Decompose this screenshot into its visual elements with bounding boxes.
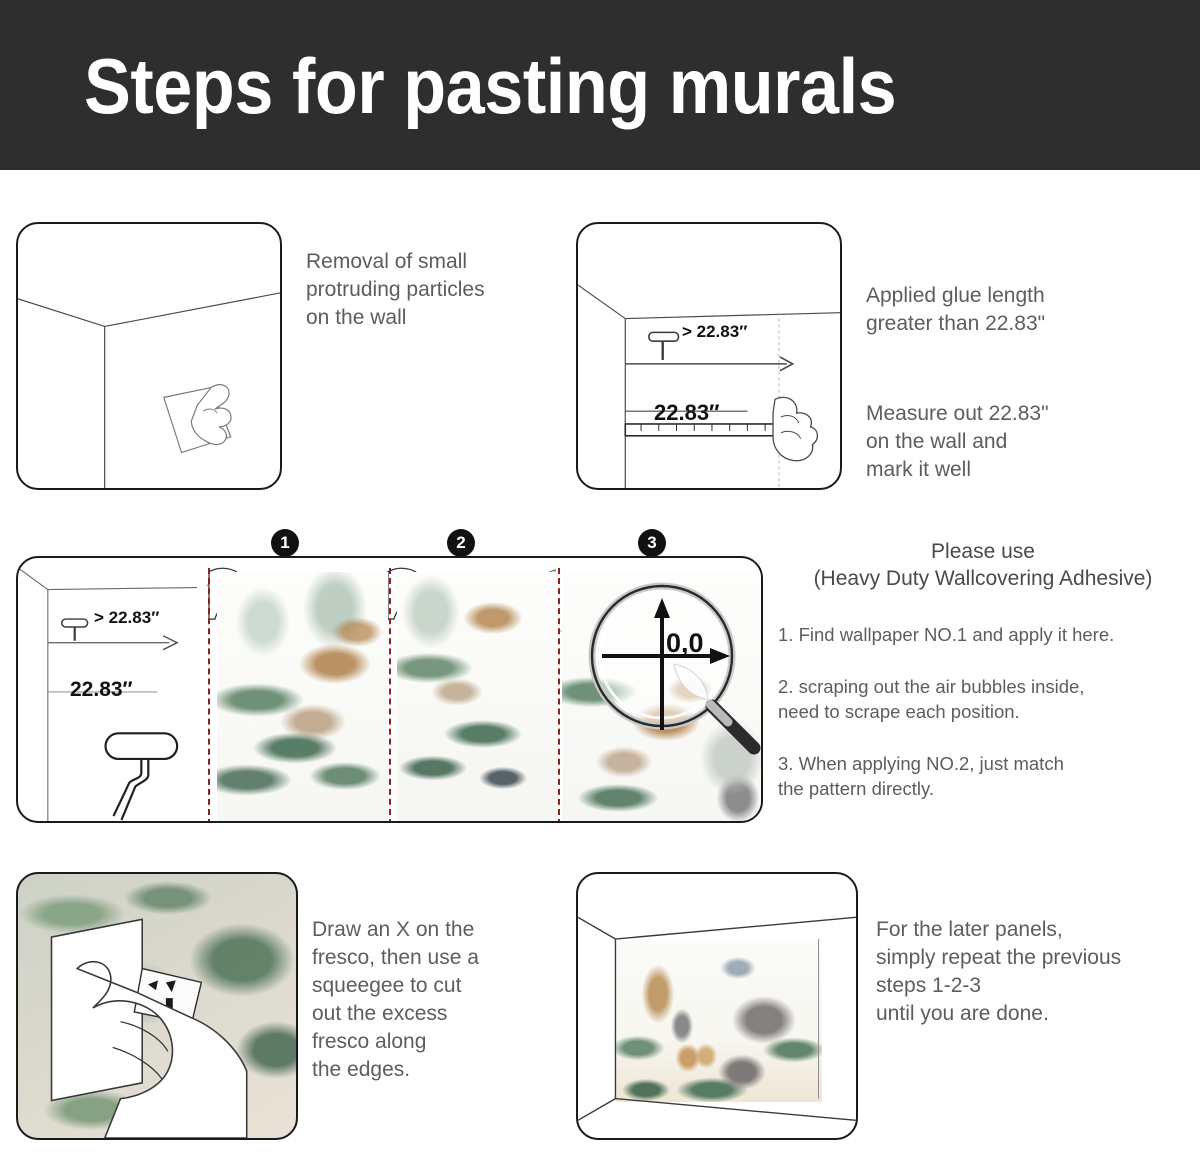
seam-line-2: [389, 568, 391, 823]
infographic-page: Steps for pasting murals Removal of smal…: [0, 0, 1200, 1152]
label-measure-length: 22.83″: [654, 400, 720, 426]
seam-line-3: [558, 568, 560, 823]
note-item-1: 1. Find wallpaper NO.1 and apply it here…: [778, 622, 1188, 647]
panel-step-1: [16, 222, 282, 490]
magnifier-icon: [578, 572, 763, 762]
seam-line-1: [208, 568, 210, 823]
badge-step-1: 1: [271, 529, 299, 557]
mural-panel-2: [397, 572, 558, 823]
notes-title: Please use (Heavy Duty Wallcovering Adhe…: [778, 538, 1188, 592]
caption-step-2-measure: Measure out 22.83" on the wall and mark …: [866, 400, 1176, 484]
squeegee-hand-illustration: [18, 874, 296, 1138]
label-origin: 0,0: [666, 628, 704, 659]
note-item-2: 2. scraping out the air bubbles inside, …: [778, 674, 1188, 724]
panel-step-5: [576, 872, 858, 1140]
mural-panel-1: [217, 572, 388, 823]
page-title: Steps for pasting murals: [84, 38, 896, 134]
caption-step-1: Removal of small protruding particles on…: [306, 248, 556, 332]
caption-step-2-glue: Applied glue length greater than 22.83": [866, 282, 1166, 338]
panel-step-2: > 22.83″ 22.83″: [576, 222, 842, 490]
notes-block: Please use (Heavy Duty Wallcovering Adhe…: [778, 538, 1188, 801]
caption-step-4: Draw an X on the fresco, then use a sque…: [312, 916, 562, 1084]
badge-step-3: 3: [638, 529, 666, 557]
wall-measure-illustration: [578, 224, 840, 488]
badge-step-2: 2: [447, 529, 475, 557]
page-header: Steps for pasting murals: [0, 0, 1200, 170]
note-item-3: 3. When applying NO.2, just match the pa…: [778, 751, 1188, 801]
room-corner-outline: [578, 874, 856, 1138]
caption-step-5: For the later panels, simply repeat the …: [876, 916, 1196, 1028]
panel-step-4: [16, 872, 298, 1140]
room-corner-illustration: [18, 224, 280, 488]
label-row-measure-length: 22.83″: [70, 678, 133, 702]
label-row-glue-length: > 22.83″: [94, 608, 159, 628]
label-glue-length: > 22.83″: [682, 322, 747, 342]
panel-step-row: > 22.83″ 22.83″ 0,0: [16, 556, 763, 823]
